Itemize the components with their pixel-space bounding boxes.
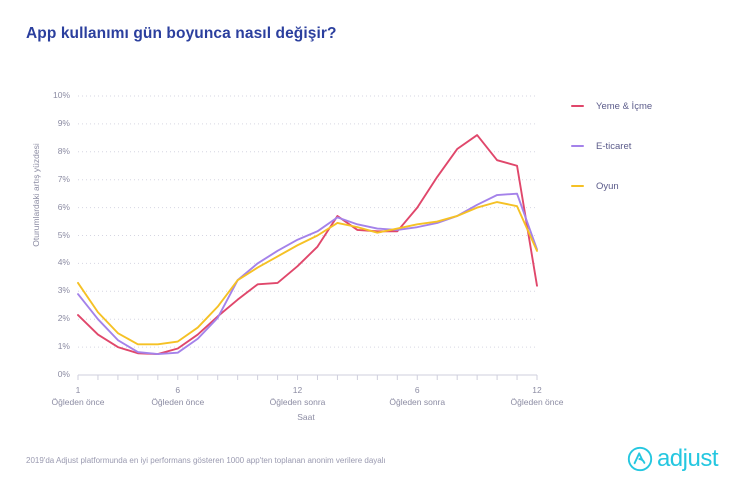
adjust-wordmark: adjust	[657, 447, 718, 471]
footnote-text: 2019'da Adjust platformunda en iyi perfo…	[26, 456, 386, 465]
x-tick-period: Öğleden sonra	[238, 396, 358, 408]
y-axis-tick-label: 6%	[36, 202, 70, 212]
adjust-logo: adjust	[627, 446, 718, 472]
x-tick-period: Öğleden sonra	[357, 396, 477, 408]
x-tick-period: Öğleden önce	[118, 396, 238, 408]
legend-line-swatch	[571, 185, 584, 188]
legend-item-label: Oyun	[596, 181, 619, 192]
x-axis-tick-label: 6Öğleden önce	[118, 384, 238, 408]
y-axis-tick-label: 0%	[36, 369, 70, 379]
y-axis-tick-label: 5%	[36, 230, 70, 240]
series-line	[78, 135, 537, 354]
x-tick-hour: 6	[357, 384, 477, 396]
y-axis-tick-label: 10%	[36, 90, 70, 100]
legend-item[interactable]: Yeme & İçme	[571, 86, 731, 126]
y-axis-tick-label: 3%	[36, 285, 70, 295]
y-axis-tick-label: 9%	[36, 118, 70, 128]
line-chart: Oturumlardaki artış yüzdesi Saat 0%1%2%3…	[0, 0, 740, 493]
x-tick-period: Öğleden önce	[477, 396, 597, 408]
y-axis-title: Oturumlardaki artış yüzdesi	[31, 115, 41, 275]
y-axis-tick-label: 7%	[36, 174, 70, 184]
x-tick-hour: 6	[118, 384, 238, 396]
series-line	[78, 194, 537, 354]
legend-line-swatch	[571, 105, 584, 108]
legend-item-label: E-ticaret	[596, 141, 631, 152]
x-tick-hour: 12	[477, 384, 597, 396]
series-line	[78, 202, 537, 344]
y-axis-tick-label: 2%	[36, 313, 70, 323]
x-axis-tick-label: 6Öğleden sonra	[357, 384, 477, 408]
x-axis-tick-label: 12Öğleden sonra	[238, 384, 358, 408]
y-axis-tick-label: 4%	[36, 257, 70, 267]
legend-item[interactable]: E-ticaret	[571, 126, 731, 166]
y-axis-tick-label: 1%	[36, 341, 70, 351]
chart-legend: Yeme & İçmeE-ticaretOyun	[571, 86, 731, 206]
x-axis-title: Saat	[0, 412, 612, 422]
adjust-logo-icon	[627, 446, 653, 472]
x-tick-hour: 12	[238, 384, 358, 396]
x-axis-tick-label: 12Öğleden önce	[477, 384, 597, 408]
legend-item[interactable]: Oyun	[571, 166, 731, 206]
legend-line-swatch	[571, 145, 584, 148]
legend-item-label: Yeme & İçme	[596, 101, 652, 112]
y-axis-tick-label: 8%	[36, 146, 70, 156]
